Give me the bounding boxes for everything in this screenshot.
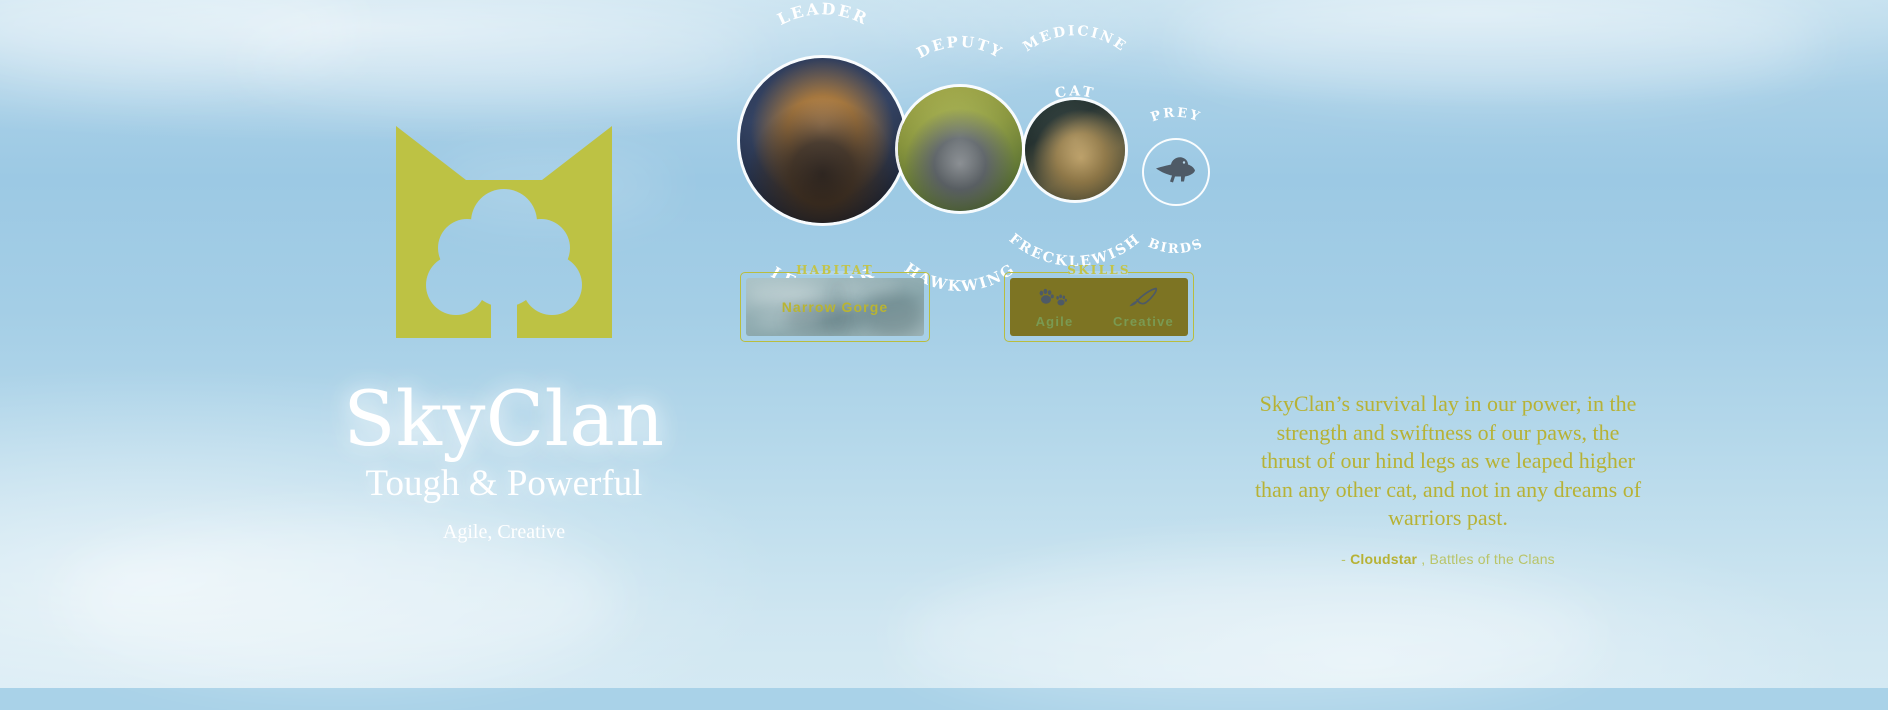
clan-details-panel: LEADER LEAFSTAR DEPUTY	[1008, 0, 1888, 688]
portrait-leafstar[interactable]	[740, 58, 905, 223]
svg-text:BIRDS: BIRDS	[1146, 236, 1207, 257]
role-label-line1: MEDICINE	[1020, 23, 1129, 55]
portrait-frecklewish[interactable]	[1025, 100, 1125, 200]
roster-member-deputy[interactable]: DEPUTY HAWKWING	[898, 87, 1022, 211]
skill-creative[interactable]: Creative	[1099, 286, 1188, 329]
svg-text:PREY: PREY	[1149, 105, 1203, 125]
role-label-text: PREY	[1149, 105, 1203, 125]
portrait-shade	[1025, 100, 1125, 200]
clan-emblem	[396, 126, 612, 338]
bird-silhouette-icon	[1154, 155, 1198, 190]
habitat-card[interactable]: HABITAT Narrow Gorge	[740, 272, 930, 342]
prey-circle[interactable]	[1142, 138, 1210, 206]
paw-prints-icon	[1038, 286, 1072, 310]
roster-member-medicine-cat[interactable]: MEDICINE CAT FRECKLEWISH	[1025, 100, 1125, 200]
clan-traits: Agile, Creative	[443, 521, 565, 544]
habitat-value: Narrow Gorge	[782, 299, 889, 315]
member-name-text: BIRDS	[1146, 236, 1207, 257]
portrait-hawkwing[interactable]	[898, 87, 1022, 211]
skill-label: Agile	[1036, 314, 1074, 329]
svg-text:MEDICINE: MEDICINE	[1020, 23, 1129, 55]
quote-text: SkyClan’s survival lay in our power, in …	[1253, 390, 1643, 533]
roster-member-leader[interactable]: LEADER LEAFSTAR	[740, 58, 905, 223]
portrait-shade	[898, 87, 1022, 211]
skills-panel: Agile	[1010, 278, 1188, 336]
clan-roster: LEADER LEAFSTAR DEPUTY	[1008, 42, 1888, 272]
cat-head-silhouette	[396, 126, 612, 338]
habitat-frame: HABITAT Narrow Gorge	[740, 272, 930, 342]
attribution-speaker: Cloudstar	[1350, 551, 1417, 567]
habitat-image: Narrow Gorge	[746, 278, 924, 336]
roster-member-prey[interactable]: PREY BIRDS	[1142, 138, 1210, 206]
skill-label: Creative	[1113, 314, 1174, 329]
habitat-legend: HABITAT	[784, 263, 886, 277]
paintbrush-icon	[1126, 286, 1162, 310]
clan-name: SkyClan	[343, 382, 664, 456]
attribution-dash: -	[1341, 551, 1346, 567]
portrait-shade	[740, 58, 905, 223]
skill-agile[interactable]: Agile	[1010, 286, 1099, 329]
quote-attribution: - Cloudstar , Battles of the Clans	[1008, 551, 1888, 567]
skills-legend: SKILLS	[1055, 263, 1142, 277]
clan-tagline: Tough & Powerful	[366, 462, 643, 505]
quote-block: SkyClan’s survival lay in our power, in …	[1008, 390, 1888, 567]
attribution-source: , Battles of the Clans	[1421, 551, 1555, 567]
skills-frame: SKILLS	[1004, 272, 1194, 342]
skills-card[interactable]: SKILLS	[1004, 272, 1194, 342]
